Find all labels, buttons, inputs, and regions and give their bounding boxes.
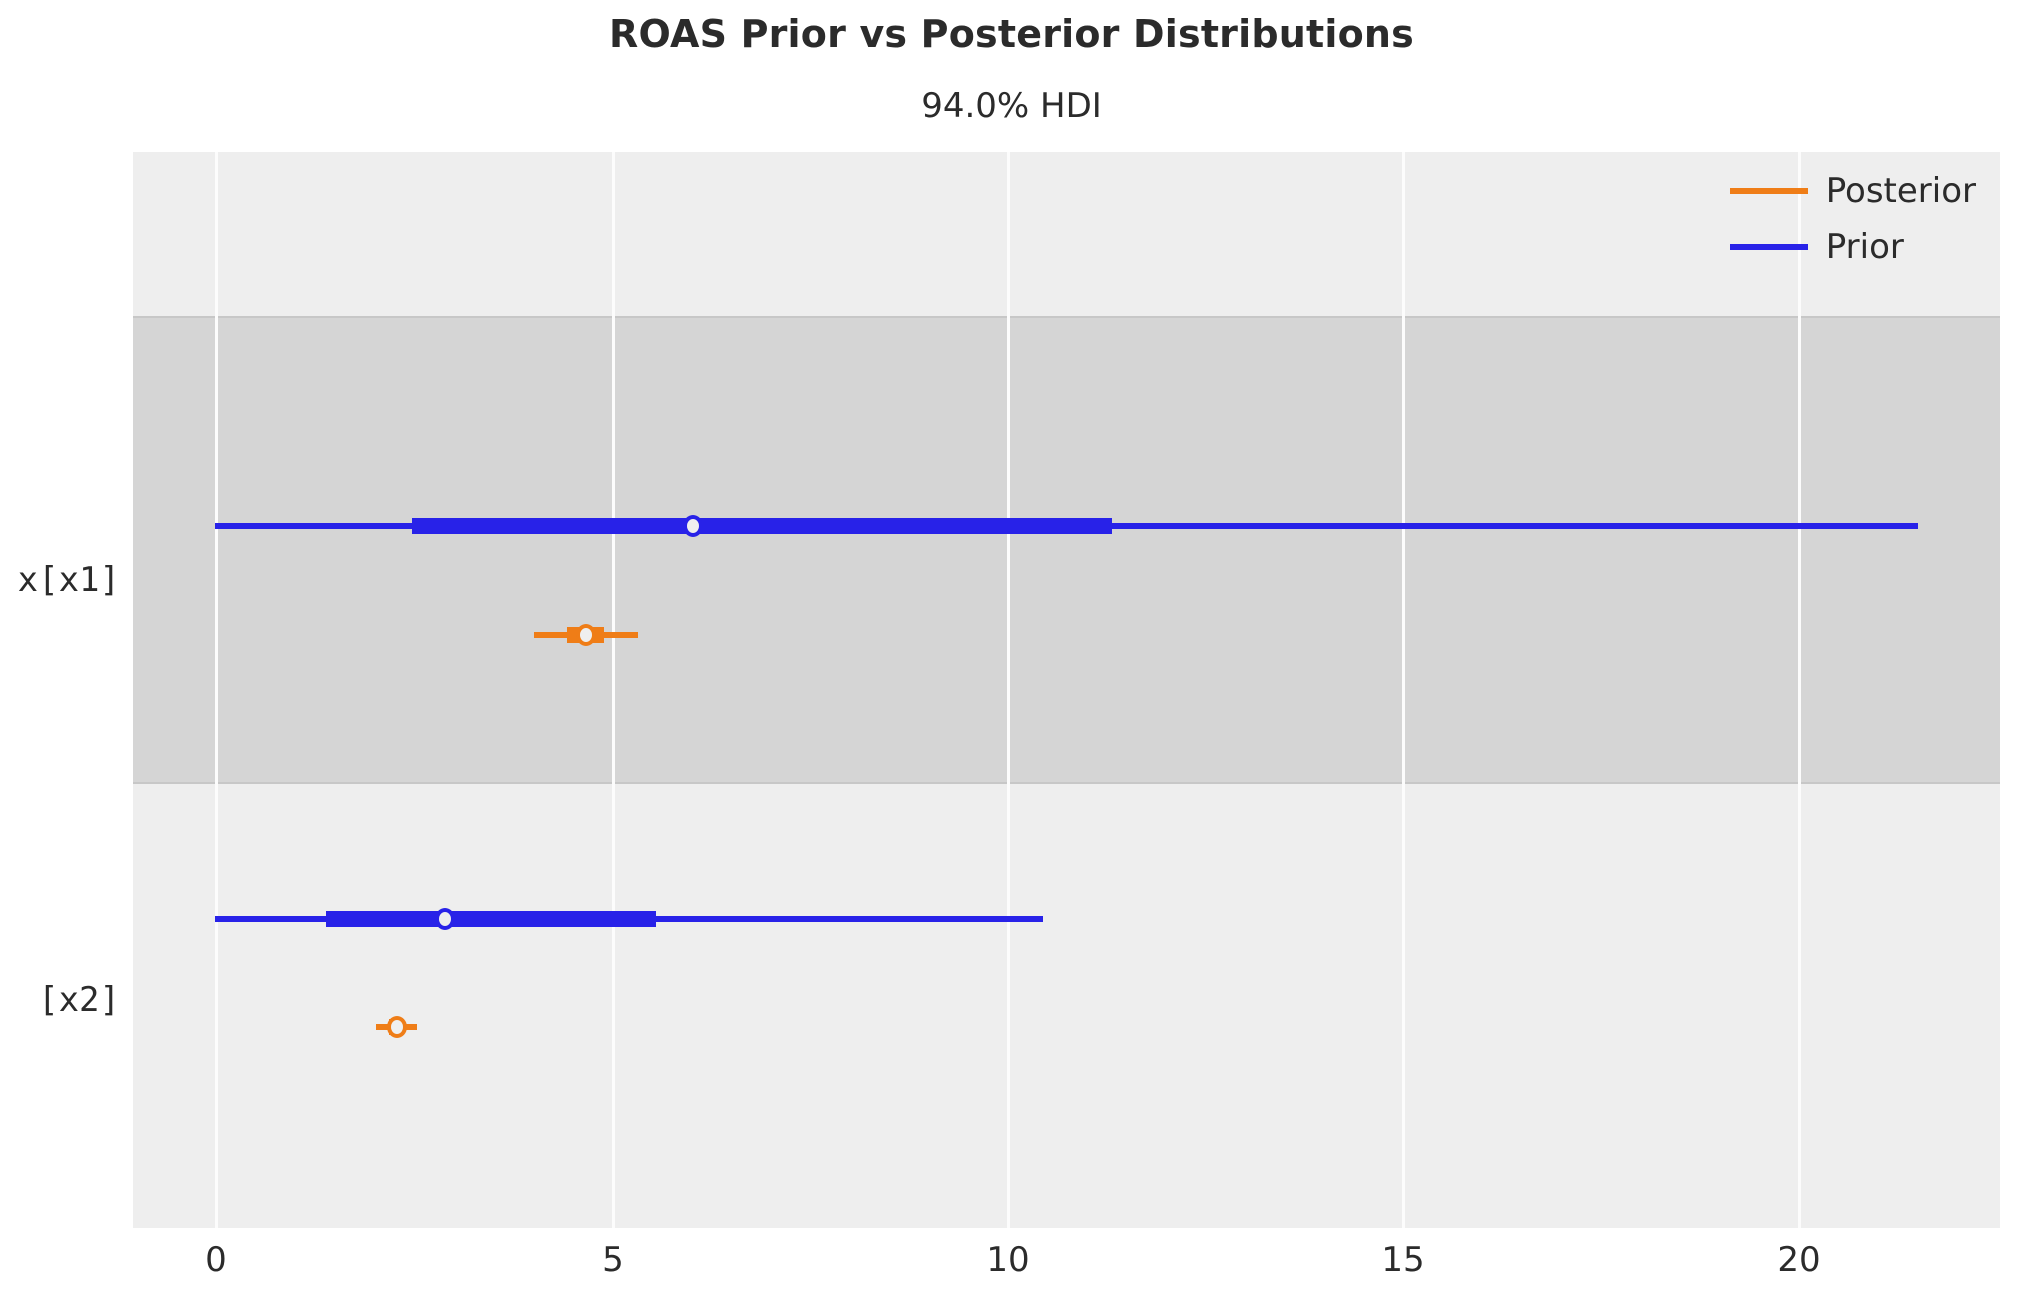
gridline-5 (612, 152, 615, 1228)
x-tick-label-5: 5 (602, 1240, 624, 1280)
legend-label-prior: Prior (1826, 230, 1904, 264)
y-tick-label-x2: [x2] (0, 980, 120, 1020)
gridline-0 (215, 152, 218, 1228)
page-title: ROAS Prior vs Posterior Distributions (0, 12, 2023, 56)
gridline-10 (1007, 152, 1010, 1228)
gridline-20 (1798, 152, 1801, 1228)
posterior-point-estimate-x2 (387, 1016, 407, 1038)
legend-entry-posterior[interactable]: Posterior (1730, 174, 1976, 208)
plot-area: Posterior Prior (133, 152, 2000, 1228)
legend: Posterior Prior (1724, 170, 1982, 272)
prior-iqr-bar-x2 (326, 911, 656, 927)
prior-point-estimate-x1 (683, 515, 703, 537)
x-tick-label-0: 0 (205, 1240, 227, 1280)
legend-label-posterior: Posterior (1826, 174, 1976, 208)
gridline-15 (1402, 152, 1405, 1228)
prior-iqr-bar-x1 (412, 518, 1112, 534)
x-tick-label-15: 15 (1381, 1240, 1424, 1280)
legend-swatch-prior (1730, 244, 1808, 250)
x-tick-label-20: 20 (1777, 1240, 1820, 1280)
y-tick-label-x1: x[x1] (0, 560, 120, 600)
legend-swatch-posterior (1730, 188, 1808, 194)
prior-point-estimate-x2 (435, 908, 455, 930)
forest-plot-figure: ROAS Prior vs Posterior Distributions 94… (0, 0, 2023, 1303)
posterior-point-estimate-x1 (576, 624, 596, 646)
row-band-x1 (133, 316, 2000, 784)
x-tick-label-10: 10 (986, 1240, 1029, 1280)
legend-entry-prior[interactable]: Prior (1730, 230, 1976, 264)
chart-subtitle: 94.0% HDI (0, 86, 2023, 126)
